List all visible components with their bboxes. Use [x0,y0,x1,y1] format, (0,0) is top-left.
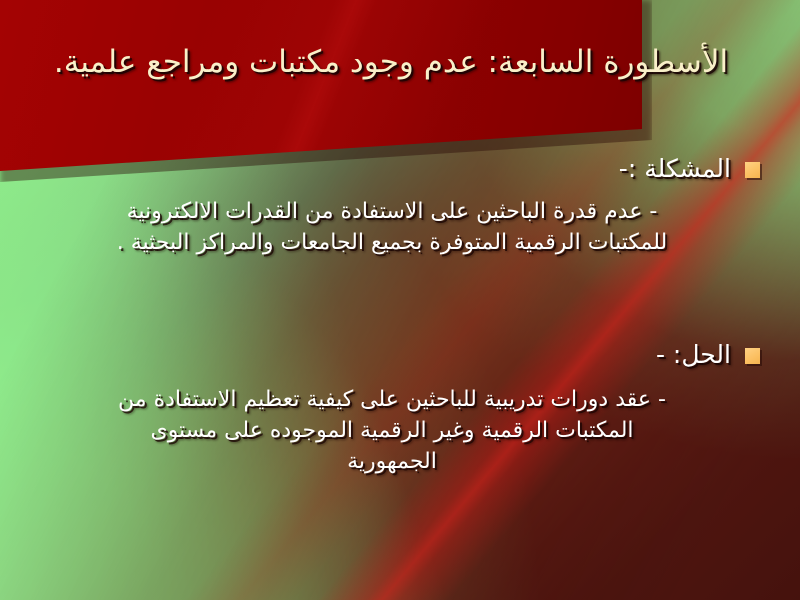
bullet-label-solution: الحل: - [656,340,731,370]
paragraph-solution-line-2: المكتبات الرقمية وغير الرقمية الموجوده ع… [56,415,728,446]
paragraph-solution-line-1: - عقد دورات تدريبية للباحثين على كيفية ت… [56,384,728,415]
slide-title: الأسطورة السابعة: عدم وجود مكتبات ومراجع… [0,44,800,82]
paragraph-problem: - عدم قدرة الباحثين على الاستفادة من الق… [0,196,800,258]
paragraph-solution-line-3: الجمهورية [56,446,728,477]
orange-square-bullet-icon [745,348,760,364]
paragraph-problem-line-1: - عدم قدرة الباحثين على الاستفادة من الق… [56,196,728,227]
presentation-slide: الأسطورة السابعة: عدم وجود مكتبات ومراجع… [0,0,800,600]
bullet-label-problem: المشكلة :- [619,154,731,184]
slide-body: المشكلة :- - عدم قدرة الباحثين على الاست… [0,140,800,600]
bullet-item-solution: الحل: - [0,340,800,370]
paragraph-solution: - عقد دورات تدريبية للباحثين على كيفية ت… [0,384,800,478]
paragraph-problem-line-2: للمكتبات الرقمية المتوفرة بجميع الجامعات… [56,227,728,258]
orange-square-bullet-icon [745,162,760,178]
bullet-item-problem: المشكلة :- [0,154,800,184]
